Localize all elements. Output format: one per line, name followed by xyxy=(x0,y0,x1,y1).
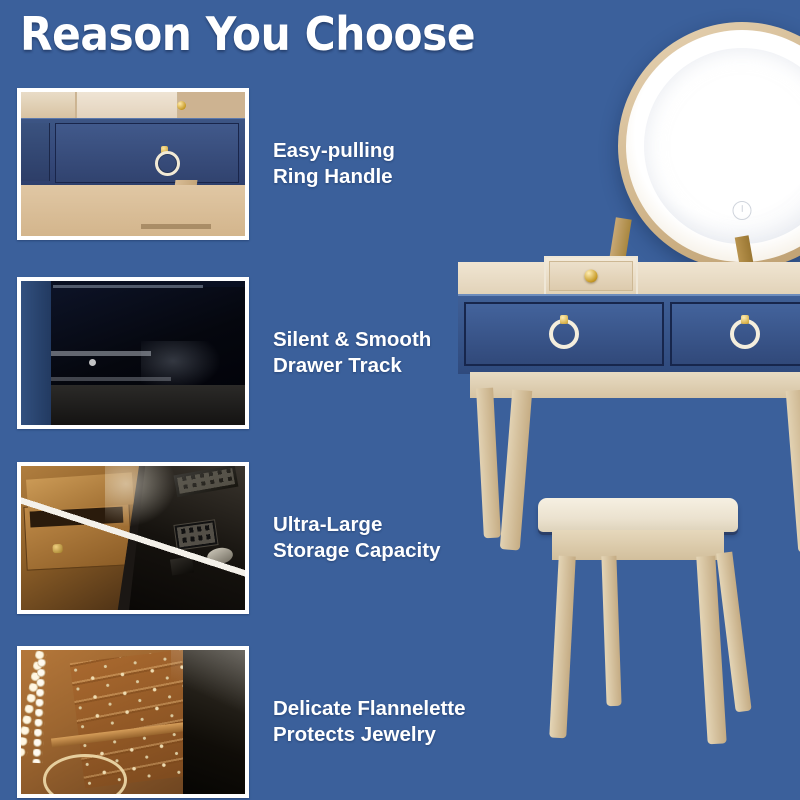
feature-thumbnail-delicate-flannelette xyxy=(17,646,249,798)
desk-leg-back-left xyxy=(476,388,501,539)
floor-shadow xyxy=(51,385,245,425)
cabinet-side-panel xyxy=(21,123,50,181)
stool-cushion-seat xyxy=(538,498,738,532)
rail-screw-icon xyxy=(89,359,96,366)
stool-leg-back-left xyxy=(601,556,621,706)
desk-leg-front-left xyxy=(500,389,532,550)
feature-thumbnail-silent-smooth-drawer-track xyxy=(17,277,249,429)
diagonal-split-divider xyxy=(21,466,245,610)
thumbnail-image-storage-capacity xyxy=(21,466,245,610)
thumbnail-image-jewelry-tray xyxy=(21,650,245,794)
stool-leg-front-left xyxy=(549,556,576,739)
wood-floor xyxy=(21,185,245,236)
floor-shadow xyxy=(141,224,211,229)
large-blue-drawer-left xyxy=(464,302,664,366)
light-reflection xyxy=(171,650,245,720)
gold-ring-handle-icon xyxy=(730,319,760,349)
blue-cabinet-body xyxy=(21,118,245,186)
product-photo-vanity-table-set xyxy=(440,0,800,800)
feature-label-ultra-large-storage-capacity: Ultra-Large Storage Capacity xyxy=(273,512,440,564)
gold-ring-handle-icon xyxy=(155,151,180,176)
gold-knob-icon xyxy=(177,101,186,110)
touch-sensor-button-icon xyxy=(733,201,752,220)
feature-row-silent-smooth-drawer-track: Silent & Smooth Drawer Track xyxy=(17,277,431,429)
page-title: Reason You Choose xyxy=(20,8,475,60)
drawer-top-edge xyxy=(53,285,203,288)
pearl-necklace-strand-2 xyxy=(32,659,81,765)
stool-apron xyxy=(552,530,724,560)
feature-thumbnail-easy-pulling-ring-handle xyxy=(17,88,249,240)
thumbnail-image-ring-handle xyxy=(21,92,245,236)
feature-row-ultra-large-storage-capacity: Ultra-Large Storage Capacity xyxy=(17,462,440,614)
feature-label-easy-pulling-ring-handle: Easy-pulling Ring Handle xyxy=(273,138,395,190)
vanity-desk-body xyxy=(458,294,800,374)
mirror-led-ring xyxy=(626,30,800,262)
feature-thumbnail-ultra-large-storage-capacity xyxy=(17,462,249,614)
blue-drawer-face xyxy=(55,123,239,183)
gold-knob-icon xyxy=(585,270,598,283)
feature-label-silent-smooth-drawer-track: Silent & Smooth Drawer Track xyxy=(273,327,431,379)
flannelette-jewelry-tray xyxy=(21,650,193,794)
mirror-glass xyxy=(644,48,800,244)
infographic-canvas: Reason You Choose xyxy=(0,0,800,800)
small-beige-drawer-with-gold-knob xyxy=(544,256,638,296)
metal-highlight xyxy=(141,341,221,391)
drawer-slide-rail-lower xyxy=(51,377,171,381)
cabinet-side-blue xyxy=(21,281,51,425)
feature-row-easy-pulling-ring-handle: Easy-pulling Ring Handle xyxy=(17,88,395,240)
thumbnail-image-drawer-track xyxy=(21,281,245,425)
gold-ring-handle-icon xyxy=(549,319,579,349)
round-led-mirror xyxy=(618,22,800,270)
desk-leg-front-right xyxy=(786,389,800,552)
drawer-slide-rail xyxy=(51,351,151,356)
large-blue-drawer-right xyxy=(670,302,800,366)
small-beige-drawer xyxy=(76,92,178,119)
feature-row-delicate-flannelette-protects-jewelry: Delicate Flannelette Protects Jewelry xyxy=(17,646,466,798)
feature-label-delicate-flannelette-protects-jewelry: Delicate Flannelette Protects Jewelry xyxy=(273,696,466,748)
